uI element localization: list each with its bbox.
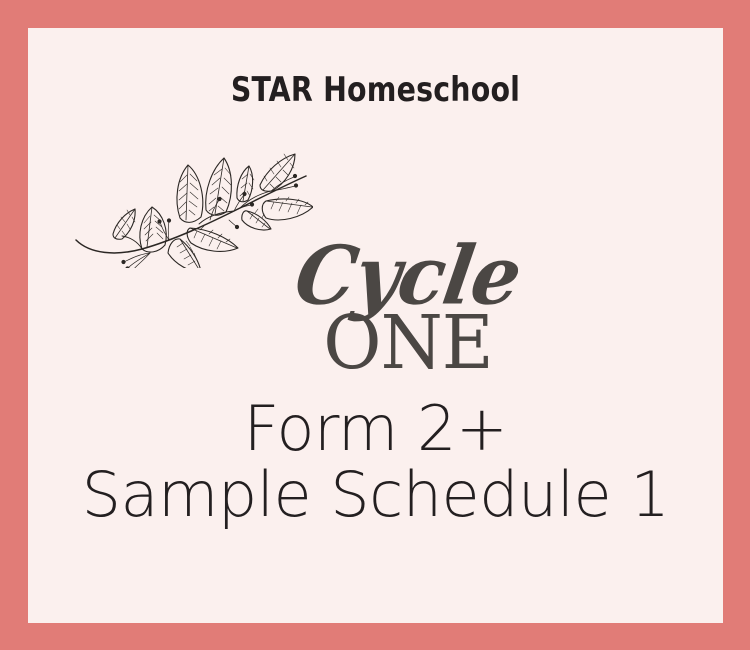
cycle-one-logo: Cycle ONE (278, 238, 538, 398)
logo-block-word: ONE (283, 306, 533, 380)
headline-line-1: Form 2+ (28, 396, 723, 462)
inner-panel: STAR Homeschool (28, 28, 723, 623)
headline-block: Form 2+ Sample Schedule 1 (28, 396, 723, 527)
headline-line-2: Sample Schedule 1 (28, 462, 723, 528)
botanical-branch-icon (38, 128, 313, 268)
brand-title: STAR Homeschool (52, 70, 698, 110)
cover-page: STAR Homeschool (0, 0, 750, 650)
